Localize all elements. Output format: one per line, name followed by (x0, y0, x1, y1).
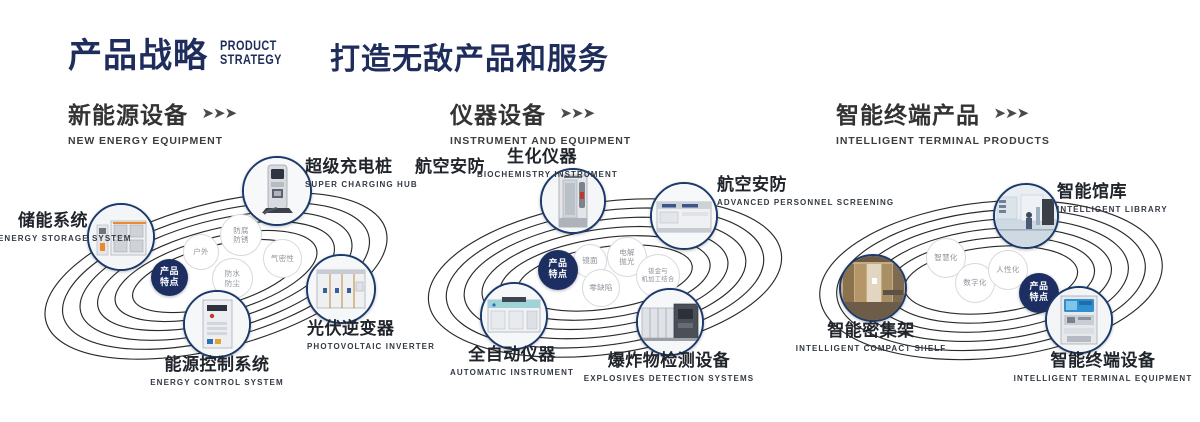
label-intelligent-library: 智能馆库 INTELLIGENT LIBRARY (1057, 183, 1168, 215)
advanced-personnel-screening-image (652, 184, 716, 248)
label-intelligent-terminal-equipment: 智能终端设备 INTELLIGENT TERMINAL EQUIPMENT (1011, 352, 1195, 384)
section-head-intelligent-terminal: 智能终端产品 ➤➤➤ INTELLIGENT TERMINAL PRODUCTS (836, 96, 1050, 147)
panel-instrument: 镜面 电解 抛光 钣金与 机加工结合 零缺陷 产品 特点 (405, 150, 805, 405)
section-title-cn-instrument: 仪器设备 (450, 96, 546, 130)
node-photovoltaic-inverter[interactable] (306, 254, 376, 324)
section-title-en-intelligent-terminal: INTELLIGENT TERMINAL PRODUCTS (836, 135, 1050, 147)
node-intelligent-terminal-equipment[interactable] (1045, 286, 1113, 354)
label-automatic-instrument: 全自动仪器 AUTOMATIC INSTRUMENT (428, 346, 596, 378)
node-intelligent-library[interactable] (993, 183, 1059, 249)
biochemistry-instrument-image (542, 170, 604, 232)
page-slogan: 打造无敌产品和服务 (330, 34, 609, 78)
energy-control-system-image (185, 292, 249, 356)
node-advanced-personnel-screening[interactable] (650, 182, 718, 250)
label-energy-control-system: 能源控制系统 ENERGY CONTROL SYSTEM (122, 356, 312, 388)
node-automatic-instrument[interactable] (480, 282, 548, 350)
label-energy-storage-system: 储能系统 ENERGY STORAGE SYSTEM (0, 212, 88, 244)
chevron-right-icons-new-energy: ➤➤➤ (201, 104, 236, 122)
panel-new-energy: 户外 防腐 防锈 气密性 防水 防尘 产品 特点 (20, 150, 420, 405)
photovoltaic-inverter-image (308, 256, 374, 322)
section-head-instrument: 仪器设备 ➤➤➤ INSTRUMENT AND EQUIPMENT (450, 96, 631, 147)
label-biochemistry-instrument: 生化仪器 BIOCHEMISTRY INSTRUMENT (477, 148, 607, 179)
feature-bubble-zero-defect: 零缺陷 (582, 269, 620, 307)
section-title-en-instrument: INSTRUMENT AND EQUIPMENT (450, 135, 631, 147)
label-explosives-detection-systems: 爆炸物检测设备 EXPLOSIVES DETECTION SYSTEMS (581, 352, 757, 384)
feature-bubble-airtightness: 气密性 (263, 239, 302, 278)
feature-bubble-outdoor: 户外 (183, 234, 219, 270)
page-title-en: PRODUCT STRATEGY (220, 38, 282, 67)
super-charging-hub-image (244, 158, 310, 224)
page-title-en-line2: STRATEGY (220, 52, 282, 66)
page-title: 产品战略 PRODUCT STRATEGY (68, 26, 299, 78)
page-title-en-line1: PRODUCT (220, 38, 282, 52)
core-bubble-new-energy: 产品 特点 (151, 259, 188, 296)
node-energy-control-system[interactable] (183, 290, 251, 358)
intelligent-compact-shelf-image (841, 256, 905, 320)
page-title-cn: 产品战略 (68, 28, 208, 77)
node-intelligent-compact-shelf[interactable] (839, 254, 907, 322)
panel-intelligent-terminal: 智慧化 数字化 人性化 产品 特点 (795, 150, 1195, 405)
label-super-charging-hub: 超级充电桩 SUPER CHARGING HUB (305, 158, 418, 190)
node-explosives-detection-systems[interactable] (636, 288, 704, 356)
label-intelligent-compact-shelf: 智能密集架 INTELLIGENT COMPACT SHELF (791, 322, 951, 354)
section-title-cn-intelligent-terminal: 智能终端产品 (836, 96, 980, 130)
intelligent-library-image (995, 185, 1057, 247)
section-title-en-new-energy: NEW ENERGY EQUIPMENT (68, 135, 236, 147)
section-head-new-energy: 新能源设备 ➤➤➤ NEW ENERGY EQUIPMENT (68, 96, 236, 147)
explosives-detection-systems-image (638, 290, 702, 354)
section-title-cn-new-energy: 新能源设备 (68, 96, 188, 130)
chevron-right-icons-instrument: ➤➤➤ (559, 104, 594, 122)
automatic-instrument-image (482, 284, 546, 348)
node-super-charging-hub[interactable] (242, 156, 312, 226)
chevron-right-icons-intelligent-terminal: ➤➤➤ (993, 104, 1028, 122)
label-aviation-security-left: 航空安防 (415, 158, 485, 178)
product-strategy-infographic: 产品战略 PRODUCT STRATEGY 打造无敌产品和服务 新能源设备 ➤➤… (0, 0, 1200, 422)
intelligent-terminal-equipment-image (1047, 288, 1111, 352)
